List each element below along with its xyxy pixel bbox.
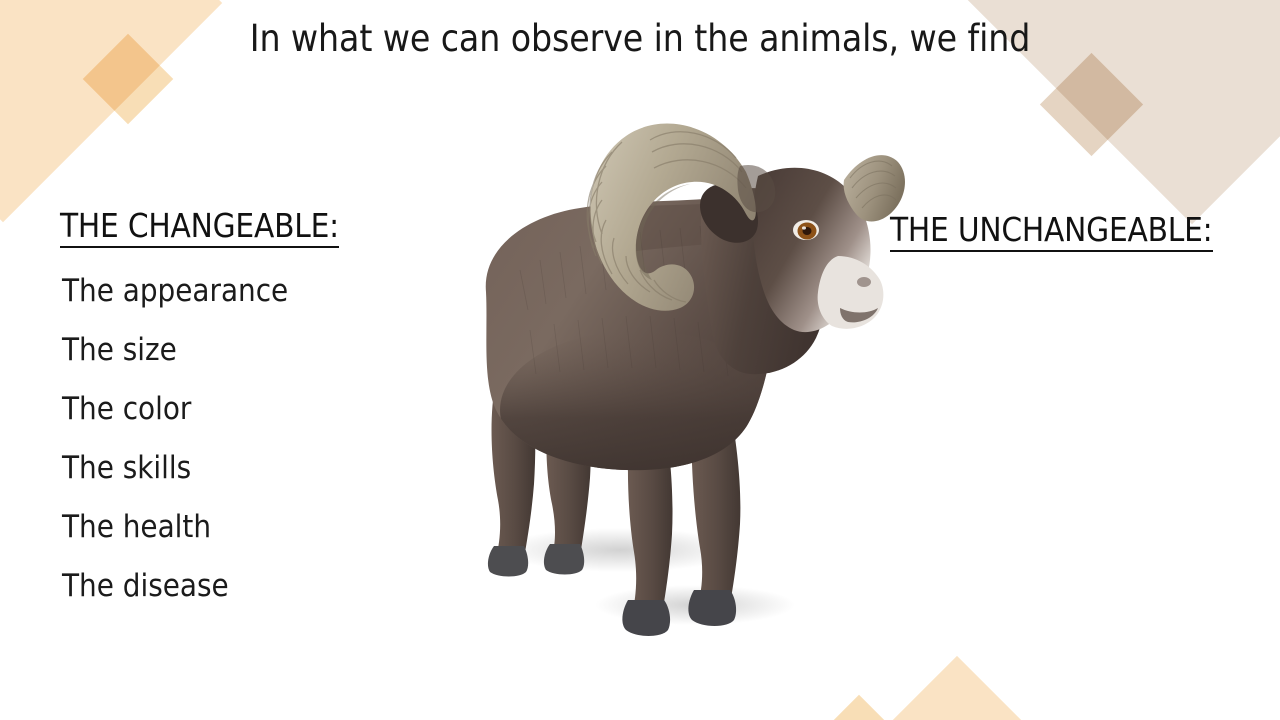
ram-photo: [440, 80, 910, 640]
slide-canvas: In what we can observe in the animals, w…: [0, 0, 1280, 720]
list-item: The health: [62, 502, 422, 561]
heading-changeable: THE CHANGEABLE:: [60, 208, 339, 248]
decorative-diamond-top-right-small: [1040, 53, 1143, 156]
list-item: The disease: [62, 561, 422, 620]
decorative-diamond-bottom-large: [820, 656, 1094, 720]
list-item: The skills: [62, 443, 422, 502]
list-item: The size: [62, 325, 422, 384]
heading-unchangeable: THE UNCHANGEABLE:: [890, 212, 1213, 252]
list-item: The color: [62, 384, 422, 443]
decorative-diamond-bottom-small: [797, 695, 921, 720]
list-changeable: The appearance The size The color The sk…: [62, 266, 422, 620]
list-item: The appearance: [62, 266, 422, 325]
slide-title: In what we can observe in the animals, w…: [0, 18, 1280, 61]
